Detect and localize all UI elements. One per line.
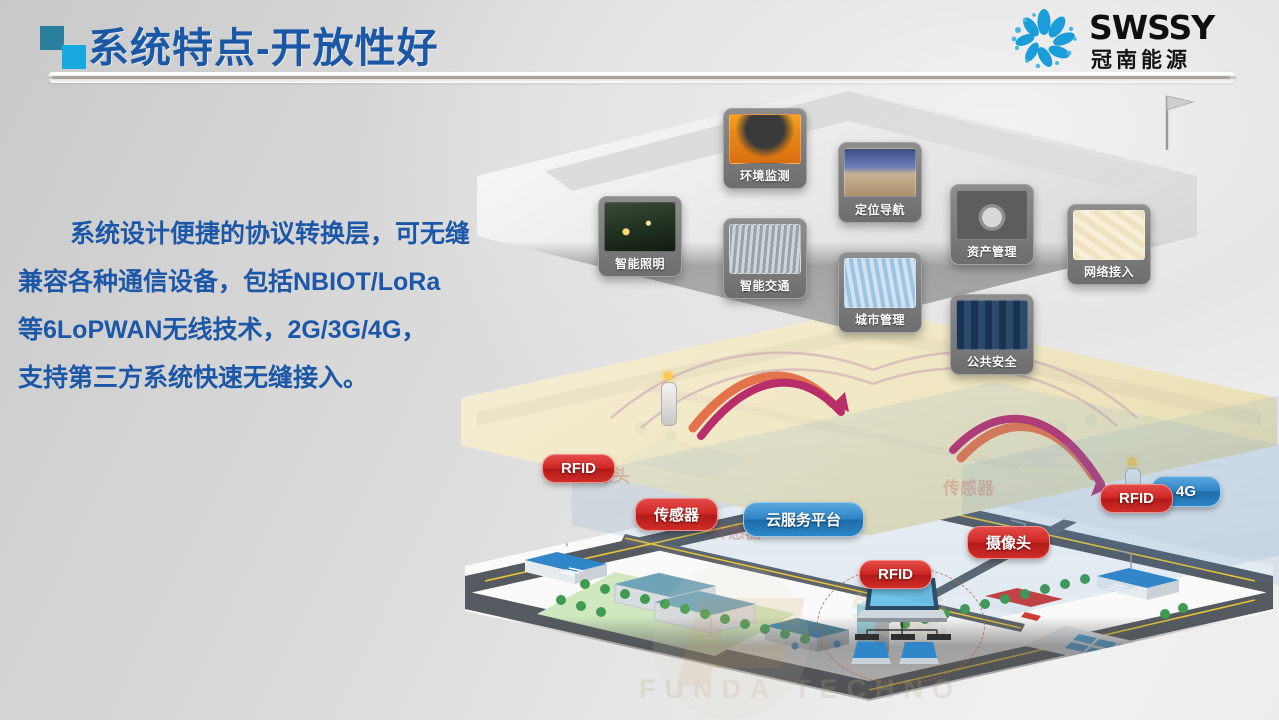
app-card-positioning-navigation[interactable]: 定位导航 bbox=[838, 142, 922, 223]
page-title: 系统特点-开放性好 bbox=[88, 14, 439, 74]
water-droplet-icon bbox=[1005, 8, 1083, 70]
app-card-city-management[interactable]: 城市管理 bbox=[838, 252, 922, 333]
app-card-thumbnail bbox=[956, 300, 1028, 350]
badge-rfid-left[interactable]: RFID bbox=[542, 454, 615, 483]
body-line-2: 兼容各种通信设备，包括NBIOT/LoRa bbox=[18, 258, 518, 306]
app-card-thumbnail bbox=[844, 148, 916, 198]
iot-architecture-diagram: 智能 FUNDA TECHNO 摄像头 传感器 传感器 bbox=[455, 86, 1279, 686]
app-card-thumbnail bbox=[956, 190, 1028, 240]
app-card-smart-traffic[interactable]: 智能交通 bbox=[723, 218, 807, 299]
app-card-thumbnail bbox=[729, 224, 801, 274]
badge-sensor-bottom[interactable]: 传感器 bbox=[635, 498, 718, 531]
badge-rfid-right[interactable]: RFID bbox=[1100, 484, 1173, 513]
app-card-network-access[interactable]: 网络接入 bbox=[1067, 204, 1151, 285]
app-card-smart-lighting[interactable]: 智能照明 bbox=[598, 196, 682, 277]
logo-wordmark: SWSSY bbox=[1089, 8, 1214, 47]
body-line-3: 等6LoPWAN无线技术，2G/3G/4G， bbox=[18, 306, 518, 354]
app-card-thumbnail bbox=[604, 202, 676, 252]
logo-subtitle: 冠南能源 bbox=[1091, 44, 1191, 74]
app-card-environment-monitoring[interactable]: 环境监测 bbox=[723, 108, 807, 189]
slide-root: 系统特点-开放性好 bbox=[0, 0, 1279, 720]
title-square-light bbox=[62, 45, 86, 69]
app-card-label: 智能交通 bbox=[729, 274, 801, 295]
app-card-thumbnail bbox=[729, 114, 801, 164]
cell-tower-2g bbox=[657, 372, 679, 424]
app-card-thumbnail bbox=[844, 258, 916, 308]
brand-logo: SWSSY 冠南能源 bbox=[1005, 6, 1265, 72]
title-divider bbox=[48, 72, 1236, 83]
app-card-label: 环境监测 bbox=[729, 164, 801, 185]
app-card-label: 网络接入 bbox=[1073, 260, 1145, 281]
app-card-label: 城市管理 bbox=[844, 308, 916, 329]
app-card-thumbnail bbox=[1073, 210, 1145, 260]
badge-camera-bottom[interactable]: 摄像头 bbox=[967, 526, 1050, 559]
body-paragraph: 系统设计便捷的协议转换层，可无缝 兼容各种通信设备，包括NBIOT/LoRa 等… bbox=[18, 210, 518, 402]
app-card-public-security[interactable]: 公共安全 bbox=[950, 294, 1034, 375]
app-card-label: 智能照明 bbox=[604, 252, 676, 273]
badge-rfid-center[interactable]: RFID bbox=[859, 560, 932, 589]
app-card-asset-management[interactable]: 资产管理 bbox=[950, 184, 1034, 265]
app-card-label: 定位导航 bbox=[844, 198, 916, 219]
app-card-label: 资产管理 bbox=[956, 240, 1028, 261]
body-line-4: 支持第三方系统快速无缝接入。 bbox=[18, 354, 518, 402]
title-square-dark bbox=[40, 26, 64, 50]
body-line-1: 系统设计便捷的协议转换层，可无缝 bbox=[18, 210, 518, 258]
app-card-label: 公共安全 bbox=[956, 350, 1028, 371]
cloud-platform-badge[interactable]: 云服务平台 bbox=[743, 502, 864, 537]
